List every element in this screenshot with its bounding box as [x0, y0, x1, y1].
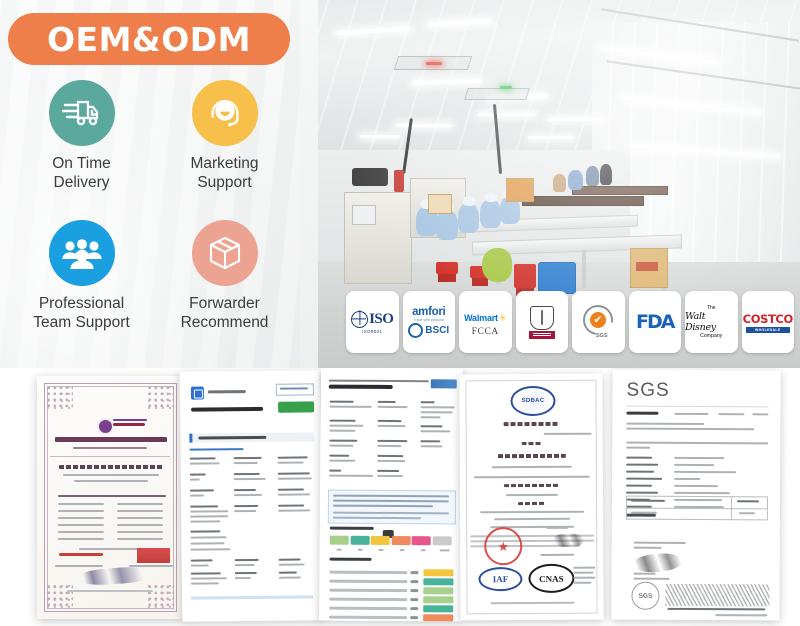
overall-rating-label — [330, 527, 374, 530]
sgs-check-icon: ✔ — [590, 312, 606, 328]
certificate-title — [55, 437, 167, 442]
scope-label — [518, 502, 546, 506]
rating-segment-c — [371, 536, 390, 545]
report-date — [718, 413, 744, 415]
left-info-panel: OEM&ODM On Time — [0, 0, 318, 368]
bureau-veritas-banner — [529, 331, 555, 339]
red-official-seal — [484, 527, 522, 565]
section-rating-row — [329, 613, 453, 622]
sgs-seal-icon: SGS — [631, 582, 659, 610]
company-url — [74, 480, 148, 482]
team-people-icon — [49, 220, 115, 286]
oem-odm-badge-label: OEM&ODM — [47, 20, 251, 59]
report-number — [674, 413, 708, 415]
report-subtitle — [329, 380, 429, 383]
certification-logo-strip: ISO ISO9001 amfori Trade with purpose BS… — [346, 291, 794, 353]
feature-label-line2: Team Support — [33, 314, 130, 333]
signatory-name — [634, 573, 656, 575]
fda-logo[interactable]: FDA — [629, 291, 682, 353]
sample-statement — [626, 442, 768, 445]
section-rating-row — [329, 595, 453, 604]
alibaba-mark — [59, 553, 103, 556]
signatory-title — [634, 578, 670, 580]
table-cell — [631, 512, 657, 515]
company-address — [492, 466, 572, 468]
table-header-cell — [631, 500, 665, 503]
signatory-label — [546, 527, 568, 529]
bureau-veritas-logo[interactable] — [516, 291, 569, 353]
costco-wordmark: COSTCO — [743, 312, 793, 326]
feature-label-line1: Forwarder — [181, 295, 269, 314]
section-rating-row — [329, 586, 453, 595]
sample-statement — [626, 447, 650, 449]
costco-logo[interactable]: COSTCO WHOLESALE — [742, 291, 795, 353]
rating-segment-none — [433, 536, 452, 545]
logo-label — [208, 390, 246, 393]
walmart-spark-icon: ✳ — [499, 313, 507, 323]
results-table — [626, 496, 768, 521]
certificate-title-cn — [504, 422, 560, 426]
validity-dates — [79, 548, 141, 550]
rating-segment-e — [412, 536, 431, 545]
walmart-row: Walmart✳ — [464, 308, 506, 326]
headset-support-icon — [192, 80, 258, 146]
chinese-iso-certificate[interactable]: SDBAC IAF CNAS — [459, 374, 603, 621]
walmart-wordmark: Walmart — [464, 313, 498, 323]
walt-disney-logo[interactable]: The Walt Disney Company — [685, 291, 738, 353]
walmart-fcca-logo[interactable]: Walmart✳ FCCA — [459, 291, 512, 353]
iso-globe-icon: ISO — [351, 311, 393, 328]
table-header-cell — [737, 500, 759, 503]
oem-odm-badge: OEM&ODM — [8, 13, 290, 65]
divider — [50, 456, 170, 457]
signed-for-label — [634, 547, 662, 549]
supplier-assessment-seal-icon — [97, 418, 114, 435]
amfori-bsci-monitoring-report[interactable] — [319, 368, 463, 621]
status-button[interactable] — [278, 401, 314, 412]
bureau-veritas-crest-icon — [530, 306, 554, 330]
page-number — [752, 413, 768, 415]
issue-date — [55, 565, 103, 567]
feature-label-line1: Marketing — [190, 155, 258, 174]
report-subtitle — [626, 412, 658, 416]
bsci-wordmark: BSCI — [425, 325, 449, 336]
cnas-caption — [459, 374, 602, 375]
sgs-test-report[interactable]: SGS — [611, 370, 780, 621]
bsci-row: BSCI — [408, 323, 449, 338]
footer-rule — [191, 595, 313, 599]
company-name-en — [63, 474, 159, 476]
notice-box — [328, 490, 456, 525]
rating-segment-b — [350, 536, 369, 545]
rating-segment-a — [330, 536, 349, 545]
field-grid — [180, 370, 320, 371]
fcca-audit-report[interactable] — [180, 370, 323, 621]
fda-wordmark: FDA — [636, 311, 673, 333]
section-rating-label — [330, 558, 372, 561]
feature-forwarder-recommend[interactable]: Forwarder Recommend — [153, 216, 296, 356]
signature — [633, 552, 682, 574]
certificate-number — [73, 447, 147, 449]
feature-professional-team-support[interactable]: Professional Team Support — [10, 216, 153, 356]
amfori-wordmark: amfori — [412, 306, 445, 318]
corner-ornament — [47, 585, 73, 609]
monitoring-id — [329, 385, 393, 389]
amfori-bsci-logo[interactable]: amfori Trade with purpose BSCI — [403, 291, 456, 353]
company-name-cn — [498, 454, 566, 458]
certificate-documents-strip: SDBAC IAF CNAS — [0, 368, 800, 626]
sgs-logo[interactable]: ✔ SGS — [572, 291, 625, 353]
awarded-to-label — [522, 442, 542, 445]
client-address — [626, 428, 754, 431]
rating-segment-d — [391, 536, 410, 545]
feature-label-line2: Delivery — [52, 174, 111, 193]
certificate-number — [544, 433, 592, 435]
package-box-icon — [192, 220, 258, 286]
corner-ornament — [47, 386, 73, 410]
section-rating-row — [329, 568, 453, 577]
feature-label: On Time Delivery — [52, 155, 111, 193]
feature-label: Forwarder Recommend — [181, 295, 269, 333]
section-header — [189, 432, 314, 442]
signed-for-label — [634, 542, 686, 544]
feature-grid: On Time Delivery — [10, 76, 296, 356]
footer-address — [667, 608, 765, 611]
feature-label-line1: On Time — [52, 155, 111, 174]
cnas-accreditation-logo: CNAS — [528, 564, 574, 593]
corner-ornament — [148, 585, 174, 609]
feature-label-line1: Professional — [33, 295, 130, 314]
corner-ornament — [148, 386, 174, 410]
iso-logo[interactable]: ISO ISO9001 — [346, 291, 399, 353]
cqc-crest-icon: SDBAC — [510, 386, 555, 416]
security-pattern-strip — [665, 584, 769, 607]
iaf-accreditation-logo: IAF — [478, 567, 522, 591]
client-name — [626, 423, 704, 425]
costco-wholesale-bar: WHOLESALE — [746, 327, 790, 333]
feature-label-line2: Recommend — [181, 314, 269, 333]
feature-label: Marketing Support — [190, 155, 258, 193]
sample-field-grid — [613, 370, 781, 371]
footer-note — [67, 590, 153, 592]
issue-date — [540, 554, 574, 556]
banner-section: OEM&ODM On Time — [0, 0, 800, 368]
iso-wordmark: ISO — [369, 311, 393, 328]
overall-rating-scale — [330, 536, 452, 546]
footer-note — [715, 614, 767, 616]
header-rule — [626, 406, 768, 408]
amfori-tagline: Trade with purpose — [413, 318, 444, 322]
crest-label: SDBAC — [522, 398, 545, 404]
company-name-cn — [59, 465, 163, 469]
signature — [553, 534, 583, 547]
report-logo-icon — [191, 386, 204, 399]
feature-label: Professional Team Support — [33, 295, 130, 333]
standard-code — [506, 494, 558, 496]
section-rating-row — [329, 604, 453, 613]
subsection-label — [190, 448, 244, 451]
bsci-ring-icon — [408, 323, 423, 338]
sgs-wordmark: SGS — [626, 380, 669, 402]
amfori-brand-mark — [431, 379, 457, 388]
delivery-truck-icon — [49, 80, 115, 146]
verified-note — [58, 495, 166, 497]
table-cell — [739, 512, 755, 514]
disney-suffix: Company — [700, 333, 722, 339]
section-rating-row — [329, 577, 453, 586]
disney-wordmark: Walt Disney — [685, 311, 738, 333]
feature-on-time-delivery[interactable]: On Time Delivery — [10, 76, 153, 216]
sgs-ring-icon: ✔ — [577, 299, 619, 341]
fcca-wordmark: FCCA — [472, 327, 499, 337]
doc-id-box — [276, 383, 314, 395]
feature-label-line2: Support — [190, 174, 258, 193]
supplier-assessment-certificate[interactable] — [37, 376, 184, 619]
red-stamp — [137, 548, 170, 563]
oem-odm-capability-banner: OEM&ODM On Time — [0, 0, 800, 626]
report-title — [191, 407, 263, 412]
feature-marketing-support[interactable]: Marketing Support — [153, 76, 296, 216]
iso-standard-label: ISO9001 — [362, 329, 382, 334]
